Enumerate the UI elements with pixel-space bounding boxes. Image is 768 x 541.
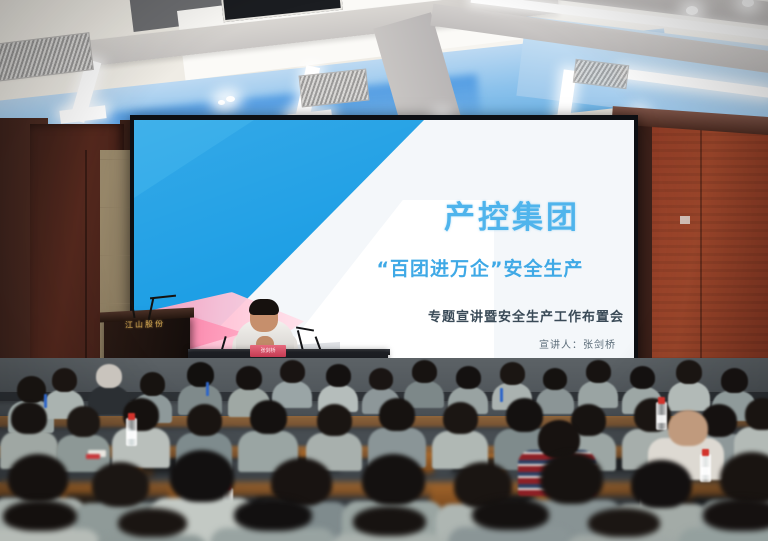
person-head <box>118 508 187 537</box>
water-bottle-icon <box>126 418 137 446</box>
audience-person <box>272 360 312 404</box>
person-head <box>630 366 655 389</box>
person-head <box>353 506 426 536</box>
person-head <box>412 360 437 383</box>
person-head <box>703 498 768 531</box>
speaker-nameplate-label: 张剑桥 <box>250 347 286 354</box>
person-head <box>456 366 481 389</box>
person-head <box>443 402 478 434</box>
audience-person <box>566 508 682 541</box>
audience-person <box>734 398 768 460</box>
person-head <box>668 410 708 446</box>
person-head <box>720 452 768 504</box>
wall-outlet-icon <box>680 216 690 224</box>
person-head <box>676 360 702 384</box>
person-head <box>721 368 748 393</box>
person-head <box>234 498 312 531</box>
person-head <box>11 402 47 434</box>
handout-papers <box>86 454 100 459</box>
person-head <box>362 454 425 505</box>
person-head <box>540 452 603 504</box>
audience-area <box>0 358 768 541</box>
person-head <box>745 398 768 430</box>
person-head <box>326 364 351 387</box>
person-head <box>96 364 122 388</box>
person-head <box>52 368 77 392</box>
water-bottle-label <box>657 415 666 423</box>
lanyard-icon <box>44 394 47 408</box>
audience-person <box>330 506 448 541</box>
downlight-icon <box>218 100 225 105</box>
person-head <box>588 508 660 537</box>
audience-person <box>0 500 100 541</box>
person-head <box>17 376 46 403</box>
slide-main-title: 产控集团 <box>402 192 622 237</box>
audience-person <box>318 364 358 408</box>
projection-screen: 产控集团 “百团进万企”安全生产 专题宣讲暨安全生产工作布置会 宣讲人：张剑桥 <box>134 120 634 378</box>
person-head <box>187 362 214 387</box>
person-head <box>170 450 234 502</box>
person-head <box>472 498 549 530</box>
slide-subtitle: “百团进万企”安全生产 <box>330 254 630 281</box>
downlight-icon <box>686 6 698 15</box>
downlight-icon <box>226 96 235 102</box>
water-bottle-label <box>127 431 136 439</box>
conference-hall-photo: 产控集团 “百团进万企”安全生产 专题宣讲暨安全生产工作布置会 宣讲人：张剑桥 … <box>0 0 768 541</box>
audience-person <box>448 498 572 541</box>
lanyard-icon <box>500 388 503 402</box>
person-head <box>67 406 100 437</box>
audience-person <box>178 362 222 410</box>
person-head <box>187 404 222 436</box>
slide-line-three: 专题宣讲暨安全生产工作布置会 <box>344 306 624 325</box>
audience-person <box>368 398 426 462</box>
person-head <box>379 398 415 431</box>
person-head <box>236 366 262 390</box>
person-head <box>280 360 305 383</box>
person-head <box>140 372 165 396</box>
audience-person <box>96 508 208 541</box>
person-head <box>92 462 149 507</box>
audience-person <box>678 498 768 541</box>
person-head <box>250 400 287 434</box>
left-wall-seam <box>85 150 87 380</box>
person-head <box>3 500 77 531</box>
person-head <box>8 454 68 502</box>
person-head <box>500 362 525 385</box>
audience-person <box>210 498 336 541</box>
speaker-hair <box>249 299 279 315</box>
person-head <box>543 368 567 390</box>
person-head <box>369 368 393 390</box>
lanyard-icon <box>206 382 209 396</box>
person-head <box>586 360 611 383</box>
audience-person <box>578 360 618 404</box>
water-bottle-icon <box>656 402 667 430</box>
person-head <box>317 404 352 436</box>
